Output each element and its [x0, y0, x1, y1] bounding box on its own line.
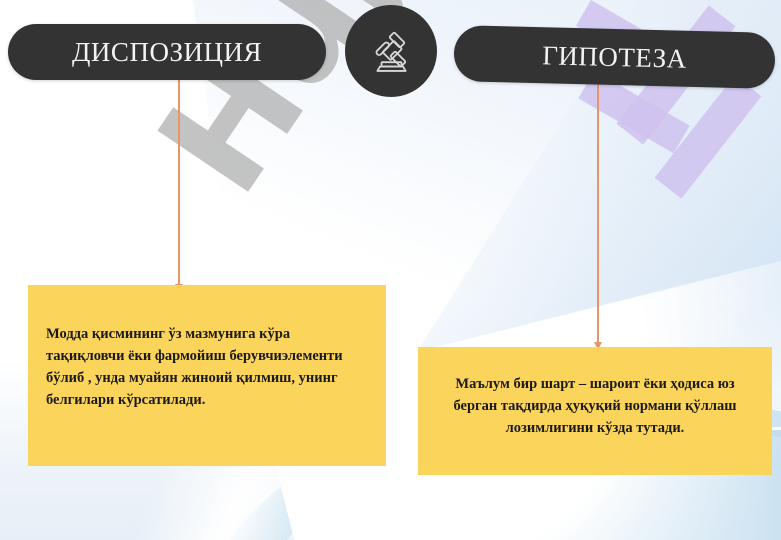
disposition-card-text: Модда қисмининг ўз мазмунига кўра тақиқл…	[46, 326, 343, 408]
connector-arrow-left	[178, 78, 180, 286]
header-pill-hypothesis[interactable]: ГИПОТЕЗА	[453, 25, 775, 89]
header-label-disposition: ДИСПОЗИЦИЯ	[72, 37, 262, 68]
connector-arrow-right	[597, 84, 599, 344]
purple-chevron-shape	[655, 75, 762, 198]
hypothesis-card: Маълум бир шарт – шароит ёки ҳодиса юз б…	[418, 347, 772, 475]
gavel-icon	[364, 24, 418, 78]
gavel-medallion	[345, 5, 437, 97]
hypothesis-card-text: Маълум бир шарт – шароит ёки ҳодиса юз б…	[453, 376, 736, 436]
disposition-card: Модда қисмининг ўз мазмунига кўра тақиқл…	[28, 285, 386, 466]
header-pill-disposition[interactable]: ДИСПОЗИЦИЯ	[8, 24, 326, 80]
slide-canvas: Hujjat 24 ДИСПОЗИЦИЯ ГИПОТЕЗА	[0, 0, 781, 540]
header-label-hypothesis: ГИПОТЕЗА	[542, 40, 687, 75]
